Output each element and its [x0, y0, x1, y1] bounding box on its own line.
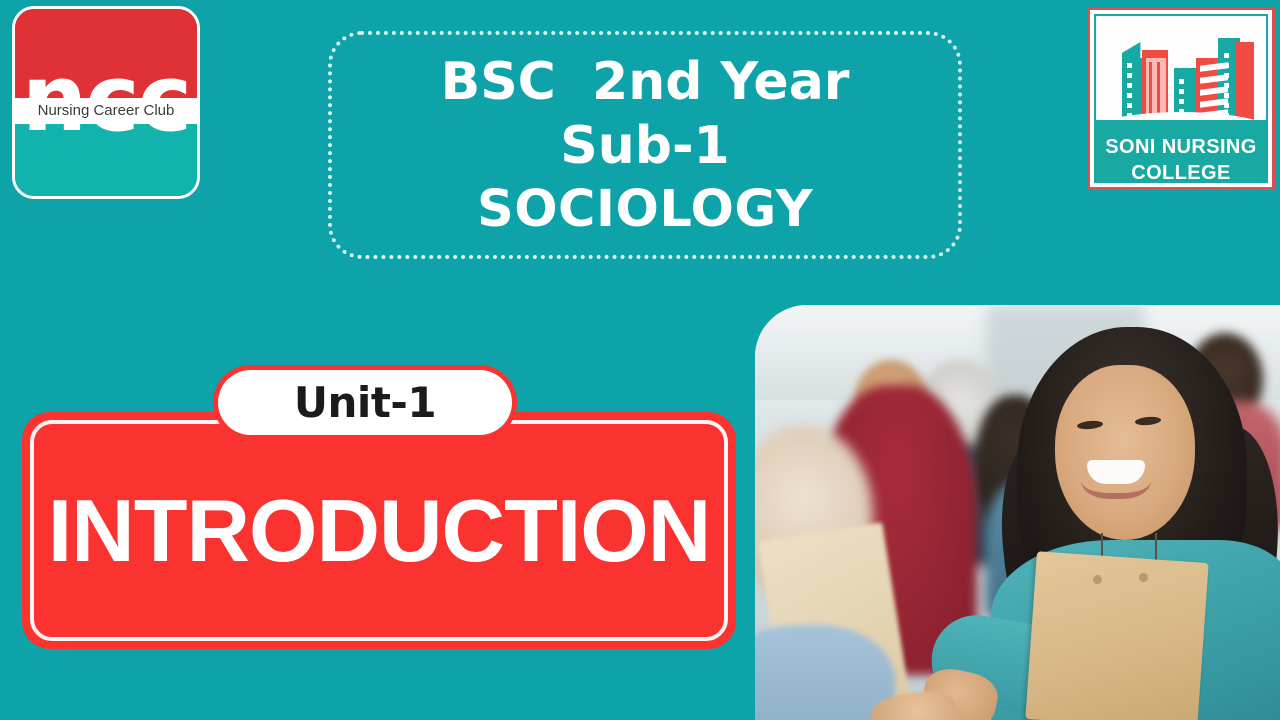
- soni-nursing-college-logo: SONI NURSING COLLEGE: [1087, 7, 1275, 190]
- course-title-line-2: Sub-1: [560, 114, 729, 178]
- soni-logo-inner-frame: SONI NURSING COLLEGE: [1094, 14, 1268, 183]
- window-dot: [1224, 93, 1229, 98]
- unit-topic-box: INTRODUCTION: [22, 412, 736, 649]
- window-dot: [1127, 83, 1132, 88]
- course-title-box: BSC 2nd Year Sub-1 SOCIOLOGY: [328, 31, 962, 259]
- soni-logo-line2: COLLEGE: [1096, 160, 1266, 183]
- course-title-line-3: SOCIOLOGY: [477, 178, 813, 242]
- window-dot: [1224, 63, 1229, 68]
- soni-logo-skyline: [1096, 16, 1266, 120]
- building-icon-8: [1236, 42, 1254, 120]
- window-dot: [1127, 103, 1132, 108]
- window-dot: [1179, 99, 1184, 104]
- ncc-logo: ncc Nursing Career Club: [12, 6, 200, 199]
- ncc-logo-tagline: Nursing Career Club: [15, 99, 197, 123]
- unit-topic-label: INTRODUCTION: [48, 480, 711, 582]
- course-title-line-1: BSC 2nd Year: [441, 50, 850, 114]
- unit-number-badge: Unit-1: [218, 370, 512, 435]
- photo-main-clipboard: [1025, 551, 1208, 720]
- lecture-title-slide: ncc Nursing Career Club: [0, 0, 1280, 720]
- window-dot: [1179, 89, 1184, 94]
- window-dot: [1224, 83, 1229, 88]
- window-dot: [1179, 79, 1184, 84]
- window-dot: [1127, 73, 1132, 78]
- soni-logo-line1: SONI NURSING: [1096, 134, 1266, 160]
- window-dot: [1127, 93, 1132, 98]
- window-dot: [1224, 103, 1229, 108]
- window-dot: [1224, 73, 1229, 78]
- soni-logo-name-band: SONI NURSING COLLEGE: [1096, 120, 1266, 181]
- window-dot: [1127, 63, 1132, 68]
- window-dot: [1224, 53, 1229, 58]
- window-stripe: [1149, 62, 1152, 118]
- unit-number-label: Unit-1: [294, 378, 436, 427]
- window-stripe: [1157, 62, 1160, 118]
- students-handshake-photo: [755, 305, 1280, 720]
- photo-subject-lips: [1081, 453, 1151, 499]
